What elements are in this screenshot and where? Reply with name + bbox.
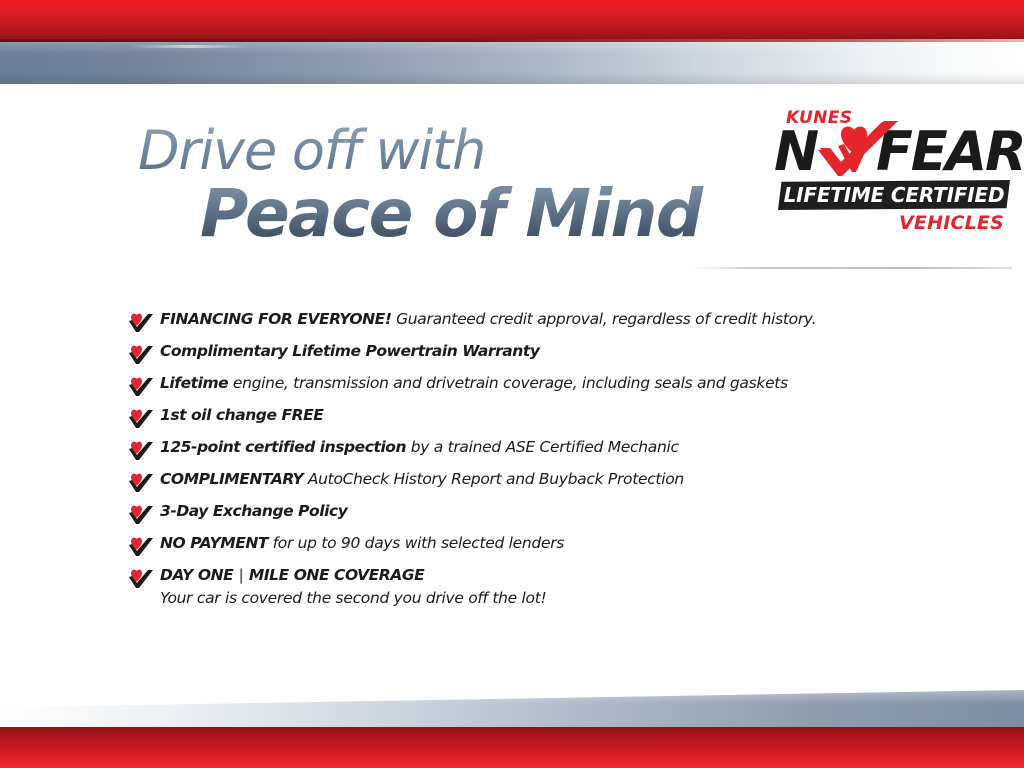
list-item: 125-point certified inspection by a trai… (128, 436, 958, 468)
headline-line-2: Peace of Mind (200, 180, 758, 247)
list-item-rest: by a trained ASE Certified Mechanic (406, 438, 679, 456)
headline-line-1: Drive off with (138, 124, 758, 178)
list-item-bold-b: MILE ONE COVERAGE (249, 566, 424, 584)
list-item-bold: 3-Day Exchange Policy (160, 502, 347, 520)
list-item: NO PAYMENT for up to 90 days with select… (128, 532, 958, 564)
list-item: 3-Day Exchange Policy (128, 500, 958, 532)
list-item-rest: AutoCheck History Report and Buyback Pro… (303, 470, 684, 488)
list-item: Lifetime engine, transmission and drivet… (128, 372, 958, 404)
top-red-banner (0, 0, 1024, 41)
list-item-bold: FINANCING FOR EVERYONE! (160, 310, 391, 328)
check-heart-icon (128, 472, 154, 494)
logo-main-row: N FEAR (772, 126, 1012, 182)
bottom-red-banner (0, 727, 1024, 768)
list-item-text: COMPLIMENTARY AutoCheck History Report a… (160, 468, 958, 490)
list-item-bold-a: DAY ONE (160, 566, 233, 584)
top-gray-gloss (130, 45, 250, 48)
list-item-rest: for up to 90 days with selected lenders (268, 534, 564, 552)
list-item: 1st oil change FREE (128, 404, 958, 436)
list-item-text: DAY ONE | MILE ONE COVERAGE (160, 564, 958, 586)
list-item-text: 125-point certified inspection by a trai… (160, 436, 958, 458)
check-heart-icon (128, 440, 154, 462)
list-item-text: Lifetime engine, transmission and drivet… (160, 372, 958, 394)
check-heart-icon (128, 408, 154, 430)
list-item: COMPLIMENTARY AutoCheck History Report a… (128, 468, 958, 500)
logo-heart-check-icon (808, 120, 904, 182)
list-item: FINANCING FOR EVERYONE! Guaranteed credi… (128, 308, 958, 340)
top-gray-shading (0, 42, 1024, 84)
list-item-text: 1st oil change FREE (160, 404, 958, 426)
list-item-bold: 125-point certified inspection (160, 438, 406, 456)
check-heart-icon (128, 536, 154, 558)
advertisement-page: Drive off with Peace of Mind KUNES N FEA… (0, 0, 1024, 768)
kunes-no-fear-logo: KUNES N FEAR LIFETIME CERTIFIED VEHICLES (772, 108, 1012, 248)
list-item-text: Complimentary Lifetime Powertrain Warran… (160, 340, 958, 362)
list-item-bold: NO PAYMENT (160, 534, 268, 552)
list-item-subtext: Your car is covered the second you drive… (160, 587, 958, 609)
list-item-bold: COMPLIMENTARY (160, 470, 303, 488)
list-item-text: NO PAYMENT for up to 90 days with select… (160, 532, 958, 554)
check-heart-icon (128, 312, 154, 334)
list-item: Complimentary Lifetime Powertrain Warran… (128, 340, 958, 372)
list-item-bold: 1st oil change FREE (160, 406, 323, 424)
logo-word-vehicles: VEHICLES (899, 212, 1004, 234)
list-item-rest: Guaranteed credit approval, regardless o… (391, 310, 816, 328)
header-divider (690, 267, 1012, 269)
check-heart-icon (128, 376, 154, 398)
list-item-text: 3-Day Exchange Policy (160, 500, 958, 522)
list-item-bold: Complimentary Lifetime Powertrain Warran… (160, 342, 539, 360)
check-heart-icon (128, 504, 154, 526)
list-item-rest: engine, transmission and drivetrain cove… (228, 374, 788, 392)
list-item-bold: Lifetime (160, 374, 228, 392)
benefits-list: FINANCING FOR EVERYONE! Guaranteed credi… (128, 308, 958, 609)
headline-block: Drive off with Peace of Mind (138, 124, 758, 247)
list-item-text: FINANCING FOR EVERYONE! Guaranteed credi… (160, 308, 958, 330)
check-heart-icon (128, 344, 154, 366)
list-item: DAY ONE | MILE ONE COVERAGE Your car is … (128, 564, 958, 609)
logo-lifetime-certified-text: LIFETIME CERTIFIED (778, 180, 1010, 210)
check-heart-icon (128, 568, 154, 590)
